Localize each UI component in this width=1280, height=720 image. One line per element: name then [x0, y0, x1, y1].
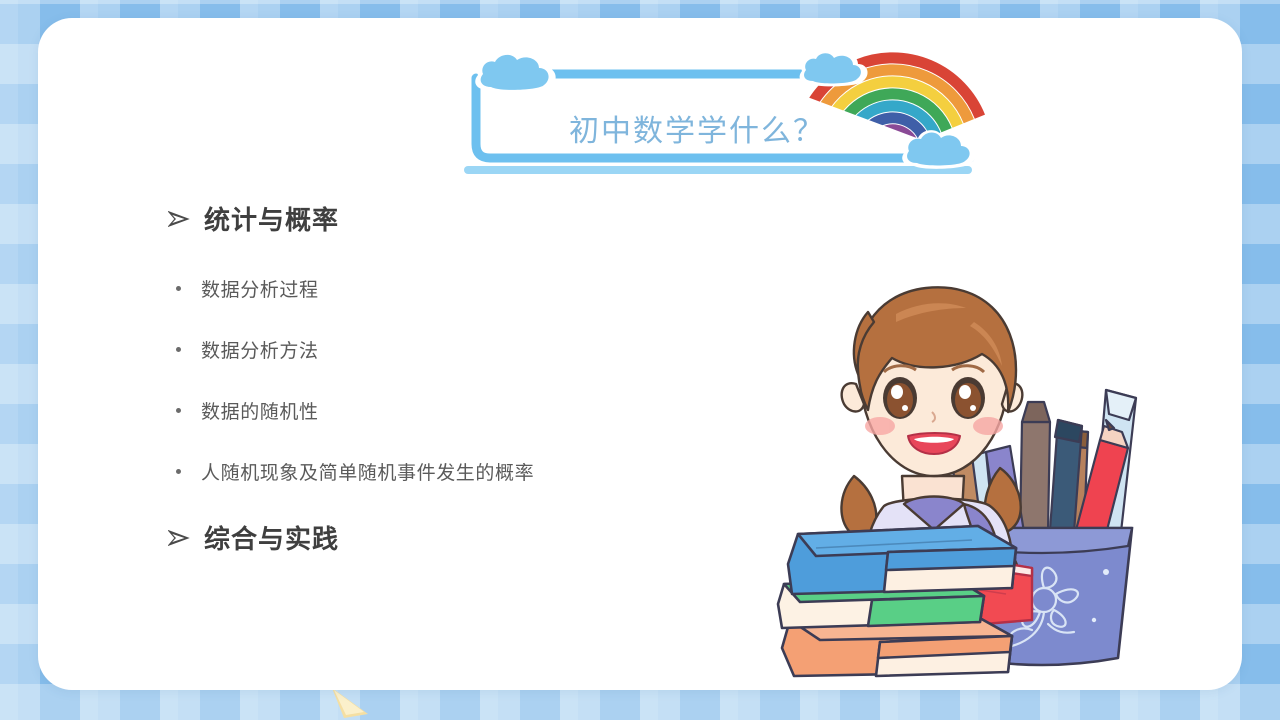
list-item: 数据分析过程	[168, 275, 808, 302]
section-heading-practice: 综合与实践	[168, 519, 808, 556]
book-stack-icon	[778, 526, 1016, 676]
arrow-bullet-icon	[168, 210, 190, 228]
dot-bullet-icon	[176, 347, 181, 352]
arrow-bullet-icon	[168, 529, 190, 547]
title-banner: 初中数学学什么？	[462, 40, 1002, 180]
bullet-list-statistics: 数据分析过程 数据分析方法 数据的随机性 人随机现象及简单随机事件发生的概率	[168, 275, 808, 485]
content-area: 统计与概率 数据分析过程 数据分析方法 数据的随机性 人随机现象及简单随机事	[168, 200, 808, 556]
dot-bullet-icon	[176, 286, 181, 291]
list-item-label: 人随机现象及简单随机事件发生的概率	[201, 458, 534, 485]
slide-card: 初中数学学什么？ 统计与概率 数据分析过程 数据分析	[38, 18, 1242, 690]
list-item: 数据的随机性	[168, 397, 808, 424]
list-item-label: 数据的随机性	[201, 397, 319, 424]
illustration-girl-reading	[776, 280, 1196, 680]
cloud-icon-left	[475, 51, 555, 93]
list-item: 数据分析方法	[168, 336, 808, 363]
list-item-label: 数据分析方法	[201, 336, 319, 363]
section-heading-label: 统计与概率	[204, 200, 339, 237]
dot-bullet-icon	[176, 469, 181, 474]
list-item-label: 数据分析过程	[201, 275, 319, 302]
section-heading-statistics: 统计与概率	[168, 200, 808, 237]
dot-bullet-icon	[176, 408, 181, 413]
corner-triangle-icon	[330, 688, 370, 718]
page-title: 初中数学学什么？	[462, 106, 932, 150]
slide-root: 初中数学学什么？ 统计与概率 数据分析过程 数据分析	[0, 0, 1280, 720]
list-item: 人随机现象及简单随机事件发生的概率	[168, 458, 808, 485]
section-heading-label: 综合与实践	[204, 519, 339, 556]
